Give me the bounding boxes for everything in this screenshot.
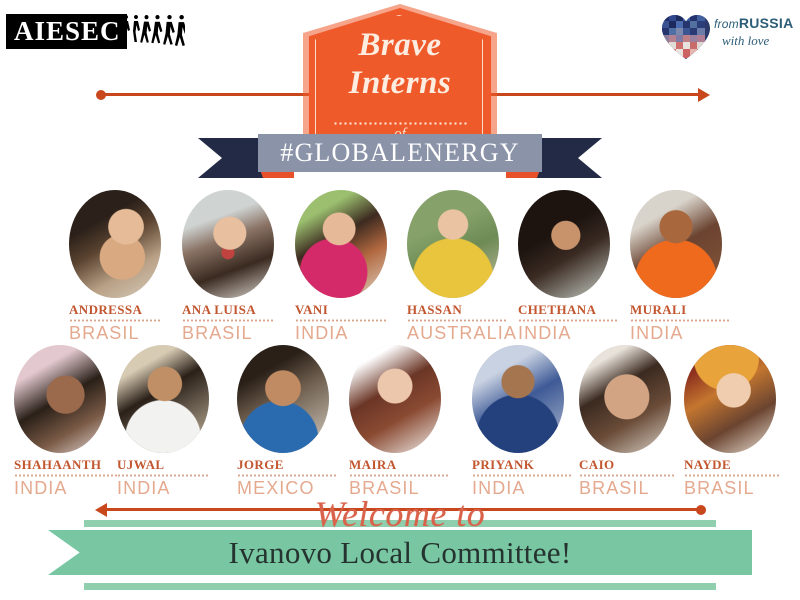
russia-with-love-label: with love [714, 33, 794, 49]
from-russia-with-love-logo: fromRUSSIA with love [660, 8, 792, 68]
shield-title-line2: Interns [303, 64, 497, 102]
caption-dotted-divider [117, 474, 209, 477]
intern-name: UJWAL [117, 457, 235, 472]
intern-caption: ANA LUISA BRASIL [182, 302, 300, 343]
russia-label: RUSSIA [739, 15, 794, 31]
avatar [349, 345, 441, 453]
intern-card[interactable]: MAIRA BRASIL [349, 345, 441, 453]
avatar [630, 190, 722, 298]
intern-name: MAIRA [349, 457, 467, 472]
committee-label: Ivanovo Local Committee! [229, 536, 572, 570]
intern-card[interactable]: PRIYANK INDIA [472, 345, 564, 453]
intern-country: BRASIL [69, 323, 187, 343]
intern-name: MURALI [630, 302, 748, 317]
walking-people-icon [123, 15, 185, 48]
welcome-script-label: Welcome to [0, 494, 800, 534]
intern-card[interactable]: MURALI INDIA [630, 190, 722, 298]
avatar [684, 345, 776, 453]
aiesec-wordmark: AIESEC [6, 14, 127, 49]
intern-card[interactable]: ANA LUISA BRASIL [182, 190, 274, 298]
avatar [295, 190, 387, 298]
intern-card[interactable]: CAIO BRASIL [579, 345, 671, 453]
intern-name: ANA LUISA [182, 302, 300, 317]
intern-card[interactable]: ANDRESSA BRASIL [69, 190, 161, 298]
caption-dotted-divider [182, 319, 274, 322]
welcome-bar-bottom [84, 583, 716, 590]
brave-interns-shield: Brave Interns of [303, 4, 497, 149]
ribbon-band: #GLOBALENERGY [258, 134, 542, 172]
intern-name: HASSAN [407, 302, 525, 317]
intern-card[interactable]: HASSAN AUSTRALIA [407, 190, 499, 298]
top-rule-arrowhead [698, 88, 710, 102]
aiesec-logo: AIESEC [6, 14, 185, 49]
avatar [69, 190, 161, 298]
intern-name: PRIYANK [472, 457, 590, 472]
intern-card[interactable]: CHETHANA INDIA [518, 190, 610, 298]
avatar [518, 190, 610, 298]
shield-dotted-divider [333, 122, 467, 125]
intern-caption: PRIYANK INDIA [472, 457, 590, 498]
russia-logo-text: fromRUSSIA with love [714, 16, 794, 49]
intern-caption: NAYDE BRASIL [684, 457, 800, 498]
russia-from-label: from [714, 17, 739, 31]
globalenergy-ribbon: #GLOBALENERGY [198, 134, 602, 182]
intern-card[interactable]: NAYDE BRASIL [684, 345, 776, 453]
intern-country: INDIA [295, 323, 413, 343]
avatar [407, 190, 499, 298]
avatar [579, 345, 671, 453]
intern-caption: JORGE MEXICO [237, 457, 355, 498]
ribbon-hashtag-label: #GLOBALENERGY [280, 140, 519, 166]
intern-name: CAIO [579, 457, 697, 472]
caption-dotted-divider [407, 319, 507, 322]
avatar [182, 190, 274, 298]
caption-dotted-divider [684, 474, 779, 477]
intern-caption: VANI INDIA [295, 302, 413, 343]
mosaic-heart-icon [660, 12, 712, 60]
intern-country: INDIA [630, 323, 748, 343]
intern-name: VANI [295, 302, 413, 317]
intern-name: CHETHANA [518, 302, 636, 317]
avatar [14, 345, 106, 453]
intern-country: INDIA [518, 323, 636, 343]
caption-dotted-divider [579, 474, 674, 477]
caption-dotted-divider [518, 319, 618, 322]
caption-dotted-divider [237, 474, 337, 477]
caption-dotted-divider [14, 474, 119, 477]
intern-name: JORGE [237, 457, 355, 472]
intern-country: BRASIL [182, 323, 300, 343]
intern-card[interactable]: VANI INDIA [295, 190, 387, 298]
intern-card[interactable]: SHAHAANTH INDIA [14, 345, 106, 453]
caption-dotted-divider [630, 319, 730, 322]
shield-title-line1: Brave [303, 26, 497, 64]
caption-dotted-divider [69, 319, 161, 322]
poster-canvas: AIESEC [0, 0, 800, 600]
intern-caption: CAIO BRASIL [579, 457, 697, 498]
intern-caption: MURALI INDIA [630, 302, 748, 343]
caption-dotted-divider [349, 474, 449, 477]
intern-caption: UJWAL INDIA [117, 457, 235, 498]
avatar [117, 345, 209, 453]
intern-card[interactable]: JORGE MEXICO [237, 345, 329, 453]
intern-caption: SHAHAANTH INDIA [14, 457, 132, 498]
intern-caption: MAIRA BRASIL [349, 457, 467, 498]
intern-name: NAYDE [684, 457, 800, 472]
intern-name: ANDRESSA [69, 302, 187, 317]
intern-caption: HASSAN AUSTRALIA [407, 302, 525, 343]
intern-card[interactable]: UJWAL INDIA [117, 345, 209, 453]
intern-caption: CHETHANA INDIA [518, 302, 636, 343]
avatar [472, 345, 564, 453]
intern-caption: ANDRESSA BRASIL [69, 302, 187, 343]
avatar [237, 345, 329, 453]
caption-dotted-divider [472, 474, 572, 477]
welcome-ribbon: Ivanovo Local Committee! [48, 530, 752, 575]
shield-title: Brave Interns [303, 26, 497, 102]
caption-dotted-divider [295, 319, 387, 322]
intern-name: SHAHAANTH [14, 457, 132, 472]
intern-country: AUSTRALIA [407, 323, 525, 343]
